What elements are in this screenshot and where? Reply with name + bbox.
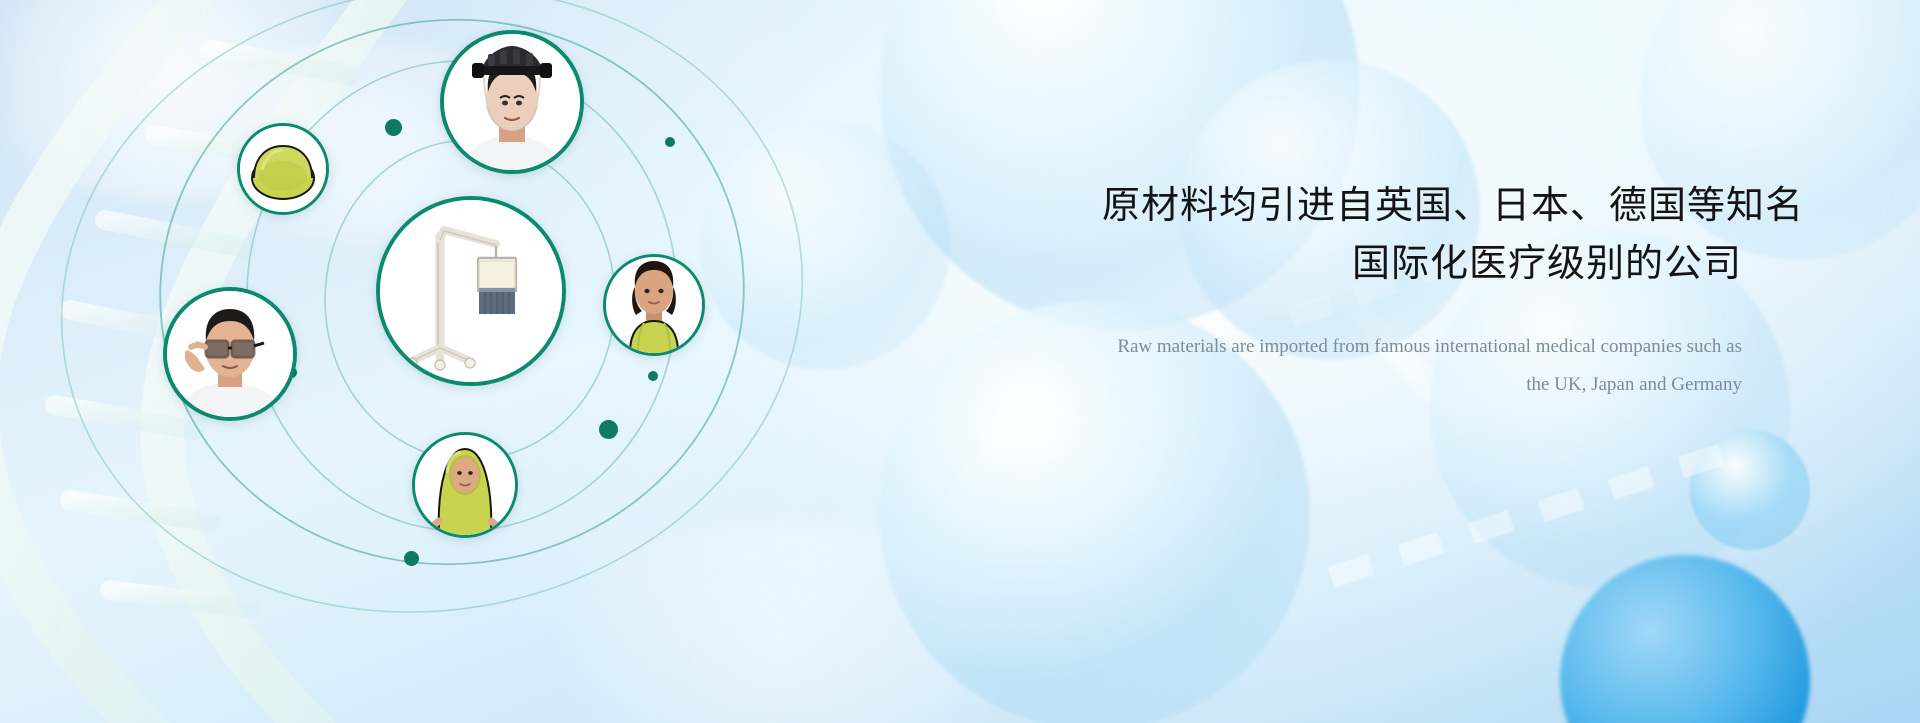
thyroid-protective-collar-icon bbox=[606, 257, 702, 353]
accent-dot bbox=[665, 137, 675, 147]
bubble-x-ray-protective-cap[interactable] bbox=[237, 123, 329, 215]
x-ray-protective-glasses-icon bbox=[167, 291, 293, 417]
dash-mark bbox=[1678, 444, 1725, 478]
bubble-mobile-x-ray-protective-screen[interactable] bbox=[376, 196, 566, 386]
accent-dot bbox=[385, 119, 402, 136]
accent-dot bbox=[648, 371, 658, 381]
hero-banner: 原材料均引进自英国、日本、德国等知名 国际化医疗级别的公司 Raw materi… bbox=[0, 0, 1920, 723]
bubble-x-ray-protective-face-shield-headlamp[interactable] bbox=[440, 30, 584, 174]
headline-line-2: 国际化医疗级别的公司 bbox=[1102, 236, 1742, 292]
x-ray-protective-face-shield-headlamp-icon bbox=[444, 34, 580, 170]
accent-dot bbox=[599, 420, 618, 439]
dash-mark bbox=[1468, 510, 1515, 544]
dash-mark bbox=[1328, 554, 1375, 588]
headline-line-1: 原材料均引进自英国、日本、德国等知名 bbox=[1102, 178, 1742, 234]
subtitle-block: Raw materials are imported from famous i… bbox=[1102, 328, 1742, 404]
blue-sphere-accent bbox=[1560, 555, 1810, 723]
x-ray-protective-hood-icon bbox=[415, 435, 515, 535]
dash-mark bbox=[1398, 532, 1445, 566]
subtitle-line-1: Raw materials are imported from famous i… bbox=[1102, 328, 1742, 366]
x-ray-protective-cap-icon bbox=[240, 126, 326, 212]
bubble-x-ray-protective-glasses[interactable] bbox=[163, 287, 297, 421]
bubble-thyroid-protective-collar[interactable] bbox=[603, 254, 705, 356]
dash-mark bbox=[1608, 466, 1655, 500]
bubble-x-ray-protective-hood[interactable] bbox=[412, 432, 518, 538]
subtitle-line-2: the UK, Japan and Germany bbox=[1102, 366, 1742, 404]
mobile-x-ray-protective-screen-icon bbox=[380, 200, 562, 382]
dash-mark bbox=[1538, 488, 1585, 522]
accent-dot bbox=[404, 551, 419, 566]
molecule-sphere bbox=[1690, 430, 1810, 550]
hero-text-block: 原材料均引进自英国、日本、德国等知名 国际化医疗级别的公司 Raw materi… bbox=[1102, 178, 1742, 404]
